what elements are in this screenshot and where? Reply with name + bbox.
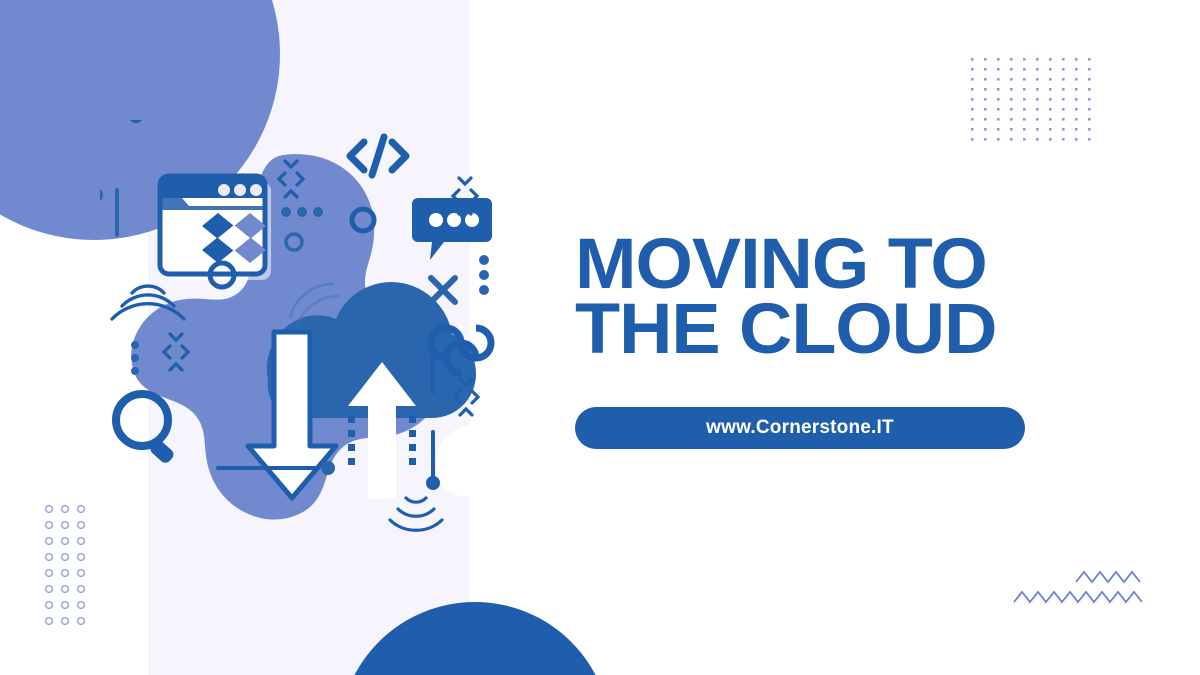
blob-highlight <box>436 426 503 496</box>
website-cta-button[interactable]: www.Cornerstone.IT <box>575 407 1025 449</box>
code-brackets-icon <box>350 137 406 175</box>
solid-dot-icon-4 <box>426 476 440 490</box>
window-dot-3 <box>250 184 262 196</box>
dots-vertical-left-icon <box>131 341 139 375</box>
content-column: MOVING TO THE CLOUD www.Cornerstone.IT <box>575 232 1045 449</box>
page-title: MOVING TO THE CLOUD <box>575 232 1064 363</box>
window-dot-1 <box>218 184 230 196</box>
solid-dot-icon-3 <box>321 461 335 475</box>
close-x-icon <box>431 278 455 302</box>
solid-dot-icon-2 <box>100 188 103 202</box>
chat-bubble-icon <box>412 198 492 260</box>
dots-vertical-right-icon <box>479 255 489 295</box>
window-dot-2 <box>234 184 246 196</box>
chat-dot-1 <box>429 213 443 227</box>
zigzag-lines-icon <box>1012 568 1144 614</box>
wifi-arcs-right-icon <box>390 498 442 530</box>
solid-dot-icon-1 <box>128 120 144 123</box>
magnifier-icon <box>116 394 176 465</box>
dot-grid-top-right-icon <box>971 58 1093 154</box>
dots-horizontal-icon <box>281 207 323 217</box>
cloud-migration-illustration <box>100 120 520 540</box>
dot-grid-bottom-left-icon <box>45 505 93 625</box>
poster-canvas: MOVING TO THE CLOUD www.Cornerstone.IT <box>0 0 1200 675</box>
